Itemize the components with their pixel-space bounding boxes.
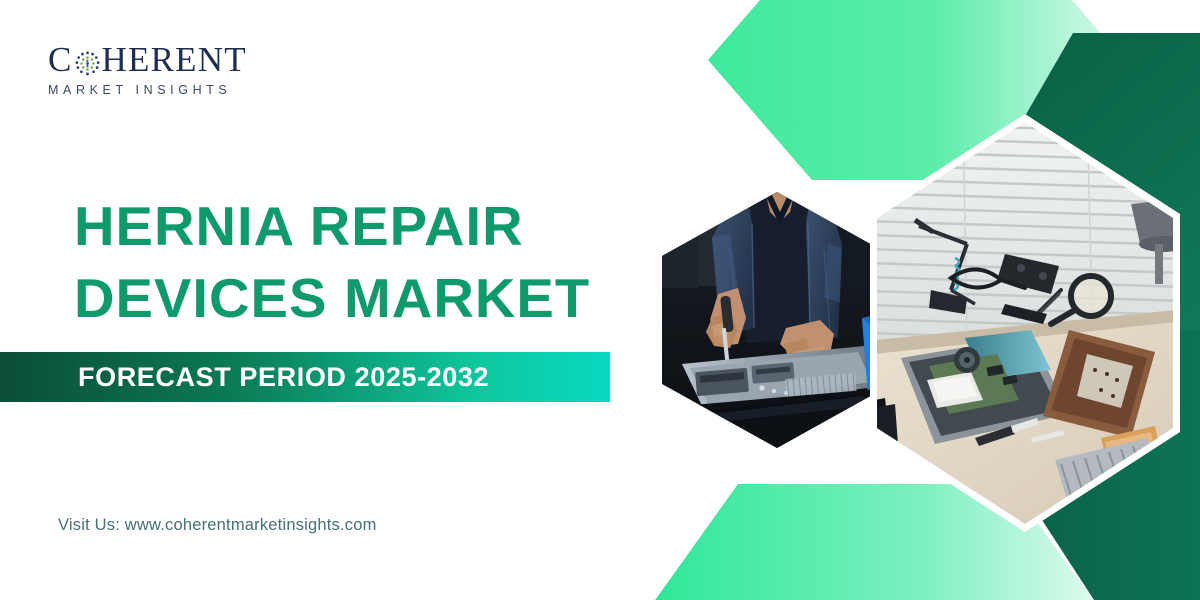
- logo-tagline: MARKET INSIGHTS: [48, 83, 288, 97]
- logo-letters-herent: HERENT: [102, 42, 247, 77]
- dotted-globe-icon: [74, 48, 101, 75]
- title-line-2: DEVICES MARKET: [74, 262, 604, 334]
- company-logo[interactable]: C: [48, 42, 288, 97]
- page-title: HERNIA REPAIR DEVICES MARKET: [74, 190, 594, 334]
- workbench-disassembled-laptop-photo: [855, 108, 1195, 538]
- forecast-period-label: FORECAST PERIOD 2025-2032: [78, 362, 489, 393]
- title-line-1: HERNIA REPAIR: [74, 190, 604, 262]
- marketing-banner: C: [0, 0, 1200, 600]
- visit-us-text[interactable]: Visit Us: www.coherentmarketinsights.com: [58, 516, 377, 535]
- logo-letter-c: C: [48, 42, 73, 77]
- logo-wordmark: C: [48, 42, 288, 77]
- forecast-period-banner: FORECAST PERIOD 2025-2032: [0, 352, 610, 402]
